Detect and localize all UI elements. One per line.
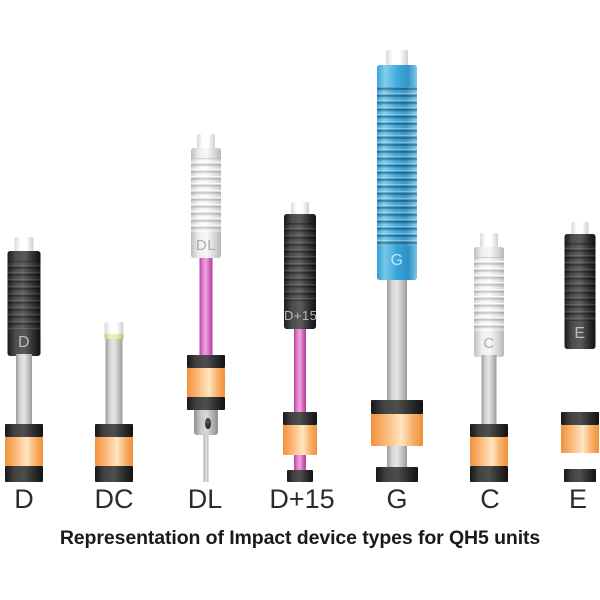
device-d-body-shoulder xyxy=(8,251,41,261)
device-c-cap xyxy=(480,233,498,247)
device-g: G xyxy=(371,50,423,482)
device-g-upper-black-band xyxy=(371,400,423,414)
device-c-upper-black-band xyxy=(470,424,508,437)
device-dl-lower-black-band xyxy=(187,397,225,410)
device-d-shaft xyxy=(16,354,32,432)
device-e-orange-band xyxy=(561,425,599,453)
figure-caption: Representation of Impact device types fo… xyxy=(0,527,600,550)
device-d-lower-black-band xyxy=(5,466,43,482)
device-c-body-shoulder xyxy=(474,247,504,257)
device-dl-shaft xyxy=(200,258,213,367)
device-g-lower-black-band xyxy=(376,467,418,482)
device-g-orange-band xyxy=(371,414,423,446)
device-dl-body-shoulder xyxy=(191,148,221,158)
device-dl-connector-hole xyxy=(205,418,211,429)
device-label-dl: DL xyxy=(181,482,229,516)
device-dl-body-collar xyxy=(191,232,221,258)
device-dc-cap xyxy=(105,322,124,334)
device-dl-body: DL xyxy=(191,148,221,258)
device-d-orange-band xyxy=(5,437,43,466)
device-dc-orange-band xyxy=(95,437,133,466)
device-d15: D+15 xyxy=(281,202,319,482)
device-d-body-collar xyxy=(8,330,41,356)
device-dl-cable xyxy=(204,435,209,482)
device-e: E xyxy=(561,222,599,482)
device-e-body: E xyxy=(565,234,596,349)
device-e-body-collar xyxy=(565,321,596,349)
device-dl-connector-block xyxy=(194,410,218,435)
device-dc-shaft xyxy=(106,339,123,437)
device-d15-shaft xyxy=(294,329,306,482)
device-dc xyxy=(95,322,133,482)
device-label-d: D xyxy=(0,482,48,516)
device-d-body: D xyxy=(8,251,41,356)
device-g-body: G xyxy=(377,65,417,280)
device-c: C xyxy=(470,233,508,482)
device-d15-lower-black-band xyxy=(287,470,313,482)
device-label-d15: D+15 xyxy=(258,482,346,516)
device-e-cap xyxy=(572,222,589,234)
device-d15-cap xyxy=(291,202,309,214)
device-e-lower-black-band xyxy=(564,469,596,482)
device-d15-body: D+15 xyxy=(284,214,316,329)
device-label-dc: DC xyxy=(90,482,138,516)
device-d15-upper-black-band xyxy=(283,412,317,425)
device-d-cap xyxy=(15,237,34,251)
device-g-body-shoulder xyxy=(377,65,417,87)
device-type-labels: D DC DL D+15 G C E xyxy=(0,482,600,524)
device-label-c: C xyxy=(466,482,514,516)
device-g-body-collar xyxy=(377,246,417,280)
device-c-lower-black-band xyxy=(470,466,508,482)
device-dl: DL xyxy=(187,134,225,482)
impact-device-figure: D DL xyxy=(0,0,600,600)
device-d15-orange-band xyxy=(283,425,317,455)
device-dl-cap xyxy=(197,134,215,148)
device-label-g: G xyxy=(373,482,421,516)
device-e-upper-black-band xyxy=(561,412,599,425)
device-dl-upper-black-band xyxy=(187,355,225,368)
device-illustration-stage: D DL xyxy=(0,0,600,482)
device-d15-body-collar xyxy=(284,301,316,329)
device-d15-body-shoulder xyxy=(284,214,316,223)
device-g-shaft xyxy=(387,280,407,482)
device-e-body-shoulder xyxy=(565,234,596,243)
device-g-cap xyxy=(386,50,408,65)
device-c-body: C xyxy=(474,247,504,357)
device-d: D xyxy=(5,237,43,482)
device-dc-upper-black-band xyxy=(95,424,133,437)
device-d-upper-black-band xyxy=(5,424,43,437)
device-c-orange-band xyxy=(470,437,508,466)
device-c-body-collar xyxy=(474,331,504,357)
device-label-e: E xyxy=(556,482,600,516)
device-dc-lower-black-band xyxy=(95,466,133,482)
device-dl-orange-band xyxy=(187,368,225,397)
